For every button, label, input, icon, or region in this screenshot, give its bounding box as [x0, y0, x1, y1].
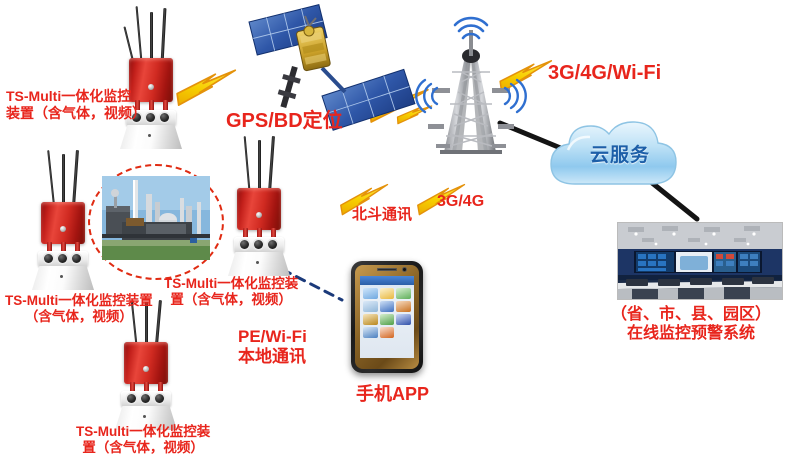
device-body — [41, 202, 85, 244]
wifi-signal-right — [505, 80, 526, 112]
device-1 — [110, 6, 202, 146]
cone-dot — [148, 134, 151, 137]
device-cone-base — [120, 125, 182, 149]
sensor-port — [160, 113, 169, 122]
tablet-screen[interactable] — [360, 276, 414, 358]
control-room-photo — [617, 222, 783, 300]
sensor-port — [155, 394, 164, 403]
app-icon[interactable] — [396, 301, 411, 312]
label-line-1: TS-Multi一体化监控装 — [76, 424, 210, 440]
label-3g4g: 3G/4G — [437, 193, 484, 212]
bolt-satellite-to-tower — [367, 76, 428, 135]
app-icon[interactable] — [380, 301, 395, 312]
antenna — [72, 150, 79, 206]
device-2 — [218, 136, 310, 276]
cloud-label: 云服务 — [556, 140, 684, 167]
label-line-2: 在线监控预警系统 — [611, 325, 771, 344]
antenna — [155, 300, 162, 344]
app-icon[interactable] — [396, 288, 411, 299]
sensor-port — [268, 240, 277, 249]
sensor-port — [58, 254, 67, 263]
app-icon[interactable] — [380, 314, 395, 325]
sensor-port — [72, 254, 81, 263]
cell-tower-icon — [416, 18, 526, 154]
sensor-port — [240, 240, 249, 249]
label-line-1: （省、市、县、园区） — [611, 306, 771, 325]
label-device-bottom: TS-Multi一体化监控装 置（含气体，视频） — [76, 424, 210, 456]
device-3 — [22, 150, 114, 290]
label-line-1: TS-Multi一体化监控装 — [164, 276, 298, 292]
app-icon[interactable] — [396, 327, 411, 338]
tablet-speaker — [377, 268, 397, 271]
sensor-port — [127, 394, 136, 403]
label-beidou: 北斗通讯 — [352, 206, 412, 224]
cone-dot — [60, 275, 63, 278]
label-gps-bd: GPS/BD定位 — [226, 110, 343, 134]
antenna — [268, 136, 275, 192]
app-icon[interactable] — [380, 288, 395, 299]
device-cone-base — [32, 266, 94, 290]
antenna — [47, 150, 55, 204]
device-cone-base — [228, 252, 290, 276]
app-icon[interactable] — [363, 327, 378, 338]
antenna — [150, 12, 153, 64]
label-line-2: 装置（含气体，视频） — [6, 105, 146, 122]
diagram-canvas: 云服务 TS-Multi一体化监控 装置（含气体，视频） TS-Multi一体化… — [0, 0, 797, 464]
label-line-2: 置（含气体，视频） — [76, 440, 210, 456]
label-device-center: TS-Multi一体化监控装 置（含气体，视频） — [164, 276, 298, 308]
rugged-tablet-icon[interactable] — [351, 261, 423, 373]
sensor-port — [141, 394, 150, 403]
sensor-port — [44, 254, 53, 263]
label-line-2: 本地通讯 — [238, 347, 307, 367]
antenna — [161, 8, 167, 64]
label-line-2: （含气体，视频） — [5, 309, 153, 325]
label-line-2: 置（含气体，视频） — [164, 292, 298, 308]
device-body — [237, 188, 281, 230]
label-control-center: （省、市、县、园区） 在线监控预警系统 — [611, 306, 771, 344]
antenna — [244, 136, 251, 190]
bolt-tower-left-small — [396, 97, 432, 132]
label-3g4g-wifi: 3G/4G/Wi-Fi — [548, 62, 661, 86]
label-device-mid-left: TS-Multi一体化监控装置 （含气体，视频） — [5, 293, 153, 325]
label-line-1: TS-Multi一体化监控装置 — [5, 293, 153, 309]
link-cloud-to-control-room — [646, 178, 697, 219]
refinery-photo — [102, 176, 210, 260]
app-icon[interactable] — [396, 314, 411, 325]
sensor-port — [254, 240, 263, 249]
antenna — [62, 154, 65, 206]
tablet-status-bar — [360, 276, 414, 285]
sensor-port — [146, 113, 155, 122]
cloud-label-wrap: 云服务 — [556, 140, 684, 174]
label-device-top-left: TS-Multi一体化监控 装置（含气体，视频） — [6, 88, 146, 121]
label-line-1: PE/Wi-Fi — [238, 327, 307, 347]
wifi-signal-top — [455, 18, 487, 38]
app-icon[interactable] — [363, 301, 378, 312]
label-local-comm: PE/Wi-Fi 本地通讯 — [238, 327, 307, 367]
tablet-camera-icon — [403, 268, 406, 271]
wifi-signal-left — [416, 80, 437, 112]
app-icon[interactable] — [380, 327, 395, 338]
cone-dot — [143, 415, 146, 418]
bolt-tower-to-wireless — [498, 50, 551, 101]
app-icon[interactable] — [363, 288, 378, 299]
app-icon[interactable] — [363, 314, 378, 325]
cone-dot — [256, 261, 259, 264]
antenna — [136, 6, 143, 62]
device-body — [124, 342, 168, 384]
tablet-app-grid[interactable] — [360, 285, 414, 341]
label-line-1: TS-Multi一体化监控 — [6, 88, 146, 105]
link-tower-to-cloud — [500, 123, 563, 149]
label-phone-app: 手机APP — [356, 384, 429, 405]
antenna — [258, 140, 261, 192]
